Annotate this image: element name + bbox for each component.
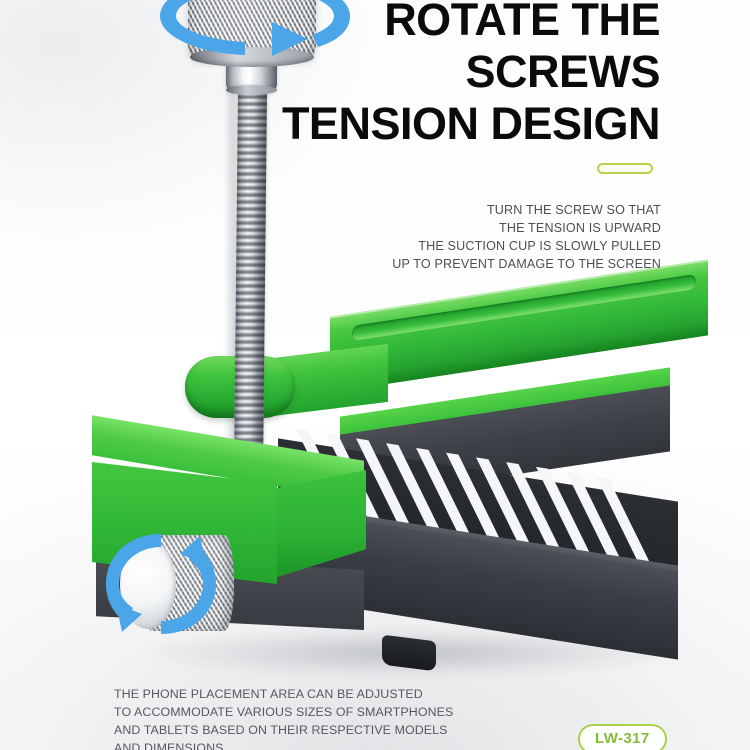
instruction-paragraph: TURN THE SCREW SO THAT THE TENSION IS UP… xyxy=(231,202,661,274)
foot-copy-line-1: THE PHONE PLACEMENT AREA CAN BE ADJUSTED xyxy=(114,686,544,704)
headline-line-2: SCREWS xyxy=(100,46,660,98)
product-feature-image: ROTATE THE SCREWS TENSION DESIGN TURN TH… xyxy=(0,0,750,750)
sub-copy-line-3: THE SUCTION CUP IS SLOWLY PULLED xyxy=(231,238,661,256)
accent-divider-pill xyxy=(597,163,653,174)
sub-copy-line-1: TURN THE SCREW SO THAT xyxy=(231,202,661,220)
sub-copy-line-4: UP TO PREVENT DAMAGE TO THE SCREEN xyxy=(231,256,661,274)
sub-copy-line-2: THE TENSION IS UPWARD xyxy=(231,220,661,238)
headline-line-3: TENSION DESIGN xyxy=(100,98,660,150)
model-number-badge: LW-317 xyxy=(578,724,667,750)
footer-description-paragraph: THE PHONE PLACEMENT AREA CAN BE ADJUSTED… xyxy=(114,686,544,750)
foot-copy-line-2: TO ACCOMMODATE VARIOUS SIZES OF SMARTPHO… xyxy=(114,704,544,722)
foot-copy-line-4: AND DIMENSIONS. xyxy=(114,740,544,750)
page-title: ROTATE THE SCREWS TENSION DESIGN xyxy=(100,0,660,151)
bidirectional-rotation-arrow-icon xyxy=(100,528,222,640)
foot-copy-line-3: AND TABLETS BASED ON THEIR RESPECTIVE MO… xyxy=(114,722,544,740)
headline-line-1: ROTATE THE xyxy=(100,0,660,46)
